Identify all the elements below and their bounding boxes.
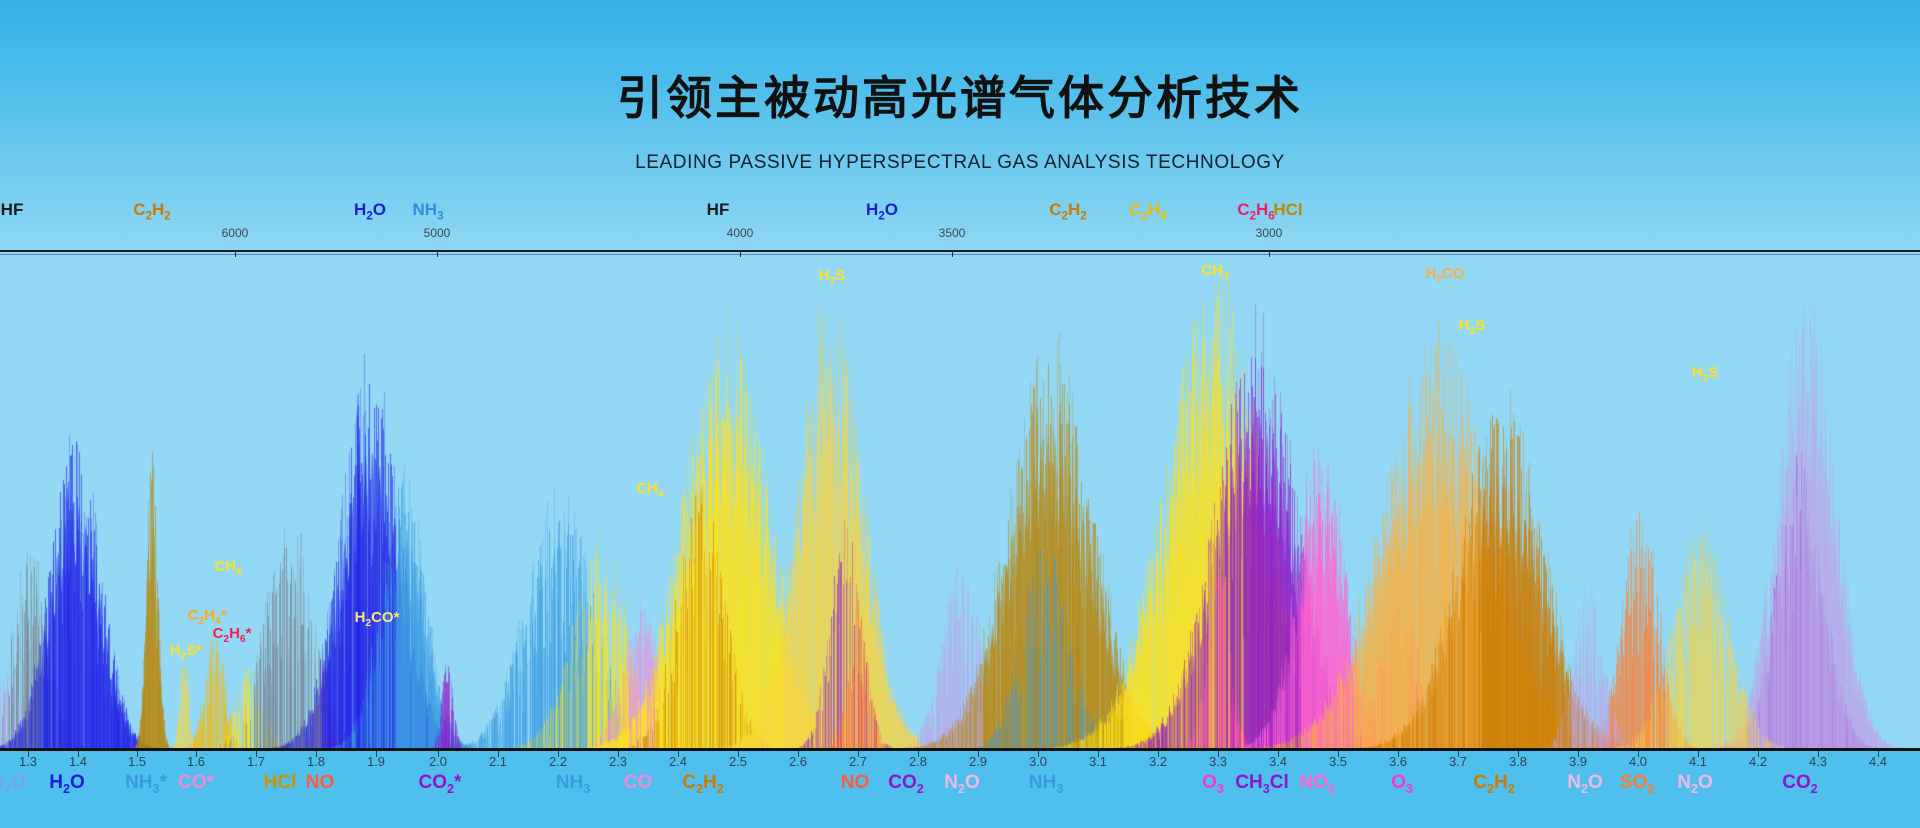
inplot-gas-label: H2S bbox=[819, 267, 846, 287]
bottom-axis-tick-label: 1.8 bbox=[307, 754, 325, 769]
bottom-axis-tick-label: 3.1 bbox=[1089, 754, 1107, 769]
bottom-gas-label: CO2 bbox=[888, 772, 923, 796]
bottom-axis-tick-label: 3.6 bbox=[1389, 754, 1407, 769]
bottom-axis-tick-label: 3.7 bbox=[1449, 754, 1467, 769]
top-axis-tick-label: 6000 bbox=[222, 226, 249, 240]
inplot-gas-label: H2S bbox=[1459, 317, 1486, 337]
bottom-gas-label: N2O bbox=[1567, 772, 1603, 796]
bottom-axis-tick-label: 4.3 bbox=[1809, 754, 1827, 769]
bottom-axis-tick-label: 3.9 bbox=[1569, 754, 1587, 769]
inplot-gas-label: C2H4* bbox=[188, 607, 227, 627]
bottom-axis-tick-label: 2.2 bbox=[549, 754, 567, 769]
bottom-gas-label: N2O bbox=[1677, 772, 1713, 796]
bottom-gas-label: CO* bbox=[178, 772, 214, 794]
inplot-gas-label: H2S bbox=[1692, 364, 1719, 384]
bottom-axis-tick-label: 2.4 bbox=[669, 754, 687, 769]
bottom-axis-tick-label: 2.7 bbox=[849, 754, 867, 769]
bottom-axis-tick-label: 3.2 bbox=[1149, 754, 1167, 769]
top-gas-label: HF bbox=[1, 200, 24, 220]
spectrum-plot bbox=[0, 252, 1920, 749]
bottom-axis-tick-label: 3.4 bbox=[1269, 754, 1287, 769]
inplot-gas-label: H2S* bbox=[170, 642, 202, 662]
top-gas-label: H2O bbox=[866, 200, 898, 222]
page-title-chinese: 引领主被动高光谱气体分析技术 bbox=[0, 62, 1920, 128]
bottom-axis-tick-label: 2.6 bbox=[789, 754, 807, 769]
bottom-gas-label: N2O bbox=[944, 772, 980, 796]
bottom-axis-tick-label: 2.3 bbox=[609, 754, 627, 769]
top-axis-tick bbox=[1269, 250, 1270, 257]
bottom-gas-label: SO2 bbox=[1620, 772, 1654, 796]
top-gas-label: H2O bbox=[354, 200, 386, 222]
bottom-axis-tick-label: 2.9 bbox=[969, 754, 987, 769]
top-gas-label: HCl bbox=[1273, 200, 1302, 220]
top-axis-line-secondary bbox=[0, 254, 1920, 255]
top-axis-tick-label: 5000 bbox=[424, 226, 451, 240]
inplot-gas-label: C2H6* bbox=[213, 625, 252, 645]
bottom-gas-label: HCl bbox=[264, 772, 297, 794]
bottom-gas-label: O3 bbox=[1202, 772, 1224, 796]
bottom-axis-tick-label: 4.2 bbox=[1749, 754, 1767, 769]
inplot-gas-label: H2CO bbox=[1425, 265, 1464, 285]
bottom-gas-label: C2H2 bbox=[682, 772, 723, 796]
bottom-gas-label: CO2 bbox=[1782, 772, 1817, 796]
bottom-axis-tick-label: 1.3 bbox=[19, 754, 37, 769]
inplot-gas-label: CH4 bbox=[214, 558, 241, 578]
top-axis-tick-label: 3500 bbox=[939, 226, 966, 240]
top-gas-label: C2H4 bbox=[1129, 200, 1166, 222]
bottom-gas-label: NH3 bbox=[556, 772, 590, 796]
top-axis-tick-label: 4000 bbox=[727, 226, 754, 240]
bottom-axis-tick-label: 3.0 bbox=[1029, 754, 1047, 769]
bottom-gas-label: C2H2 bbox=[1473, 772, 1514, 796]
top-gas-label: C2H2 bbox=[1049, 200, 1086, 222]
top-axis-line bbox=[0, 250, 1920, 252]
top-axis-tick bbox=[740, 250, 741, 257]
bottom-axis-tick-label: 2.5 bbox=[729, 754, 747, 769]
bottom-axis-tick-label: 4.1 bbox=[1689, 754, 1707, 769]
bottom-gas-label: CO2* bbox=[419, 772, 462, 796]
bottom-axis-tick-label: 3.3 bbox=[1209, 754, 1227, 769]
bottom-gas-label: NO2 bbox=[1299, 772, 1334, 796]
top-axis-tick-label: 3000 bbox=[1256, 226, 1283, 240]
bottom-gas-label: N2O bbox=[0, 772, 26, 796]
top-gas-label: HF bbox=[707, 200, 730, 220]
bottom-axis-tick-label: 2.0 bbox=[429, 754, 447, 769]
bottom-axis-tick-label: 3.5 bbox=[1329, 754, 1347, 769]
inplot-gas-label: CH4 bbox=[636, 480, 663, 500]
bottom-gas-label: O3 bbox=[1391, 772, 1413, 796]
bottom-axis-tick-label: 2.1 bbox=[489, 754, 507, 769]
hyperspectral-poster: 引领主被动高光谱气体分析技术 LEADING PASSIVE HYPERSPEC… bbox=[0, 0, 1920, 828]
top-axis-tick bbox=[437, 250, 438, 257]
bottom-gas-label: NH3* bbox=[125, 772, 167, 796]
bottom-gas-label: NH3 bbox=[1029, 772, 1063, 796]
bottom-axis-tick-label: 1.7 bbox=[247, 754, 265, 769]
bottom-axis-tick-label: 1.9 bbox=[367, 754, 385, 769]
bottom-gas-label: NO bbox=[841, 772, 870, 794]
inplot-gas-label: CH4 bbox=[1201, 262, 1228, 282]
top-gas-label: C2H2 bbox=[133, 200, 170, 222]
top-axis-tick bbox=[235, 250, 236, 257]
bottom-axis-tick-label: 1.5 bbox=[128, 754, 146, 769]
bottom-axis-tick-label: 4.4 bbox=[1869, 754, 1887, 769]
bottom-gas-label: NO bbox=[306, 772, 335, 794]
inplot-gas-label: H2CO* bbox=[355, 609, 400, 629]
bottom-gas-label: H2O bbox=[49, 772, 85, 796]
bottom-axis-tick-label: 4.0 bbox=[1629, 754, 1647, 769]
bottom-gas-label: CO bbox=[624, 772, 653, 794]
bottom-axis-tick-label: 1.6 bbox=[187, 754, 205, 769]
page-subtitle-english: LEADING PASSIVE HYPERSPECTRAL GAS ANALYS… bbox=[0, 152, 1920, 174]
bottom-axis-tick-label: 2.8 bbox=[909, 754, 927, 769]
top-axis-tick bbox=[952, 250, 953, 257]
top-gas-label: C2H6 bbox=[1237, 200, 1274, 222]
bottom-gas-label: CH3Cl bbox=[1235, 772, 1288, 796]
bottom-axis-line bbox=[0, 748, 1920, 751]
bottom-axis-tick-label: 3.8 bbox=[1509, 754, 1527, 769]
bottom-axis-tick-label: 1.4 bbox=[69, 754, 87, 769]
top-gas-label: NH3 bbox=[413, 200, 444, 222]
